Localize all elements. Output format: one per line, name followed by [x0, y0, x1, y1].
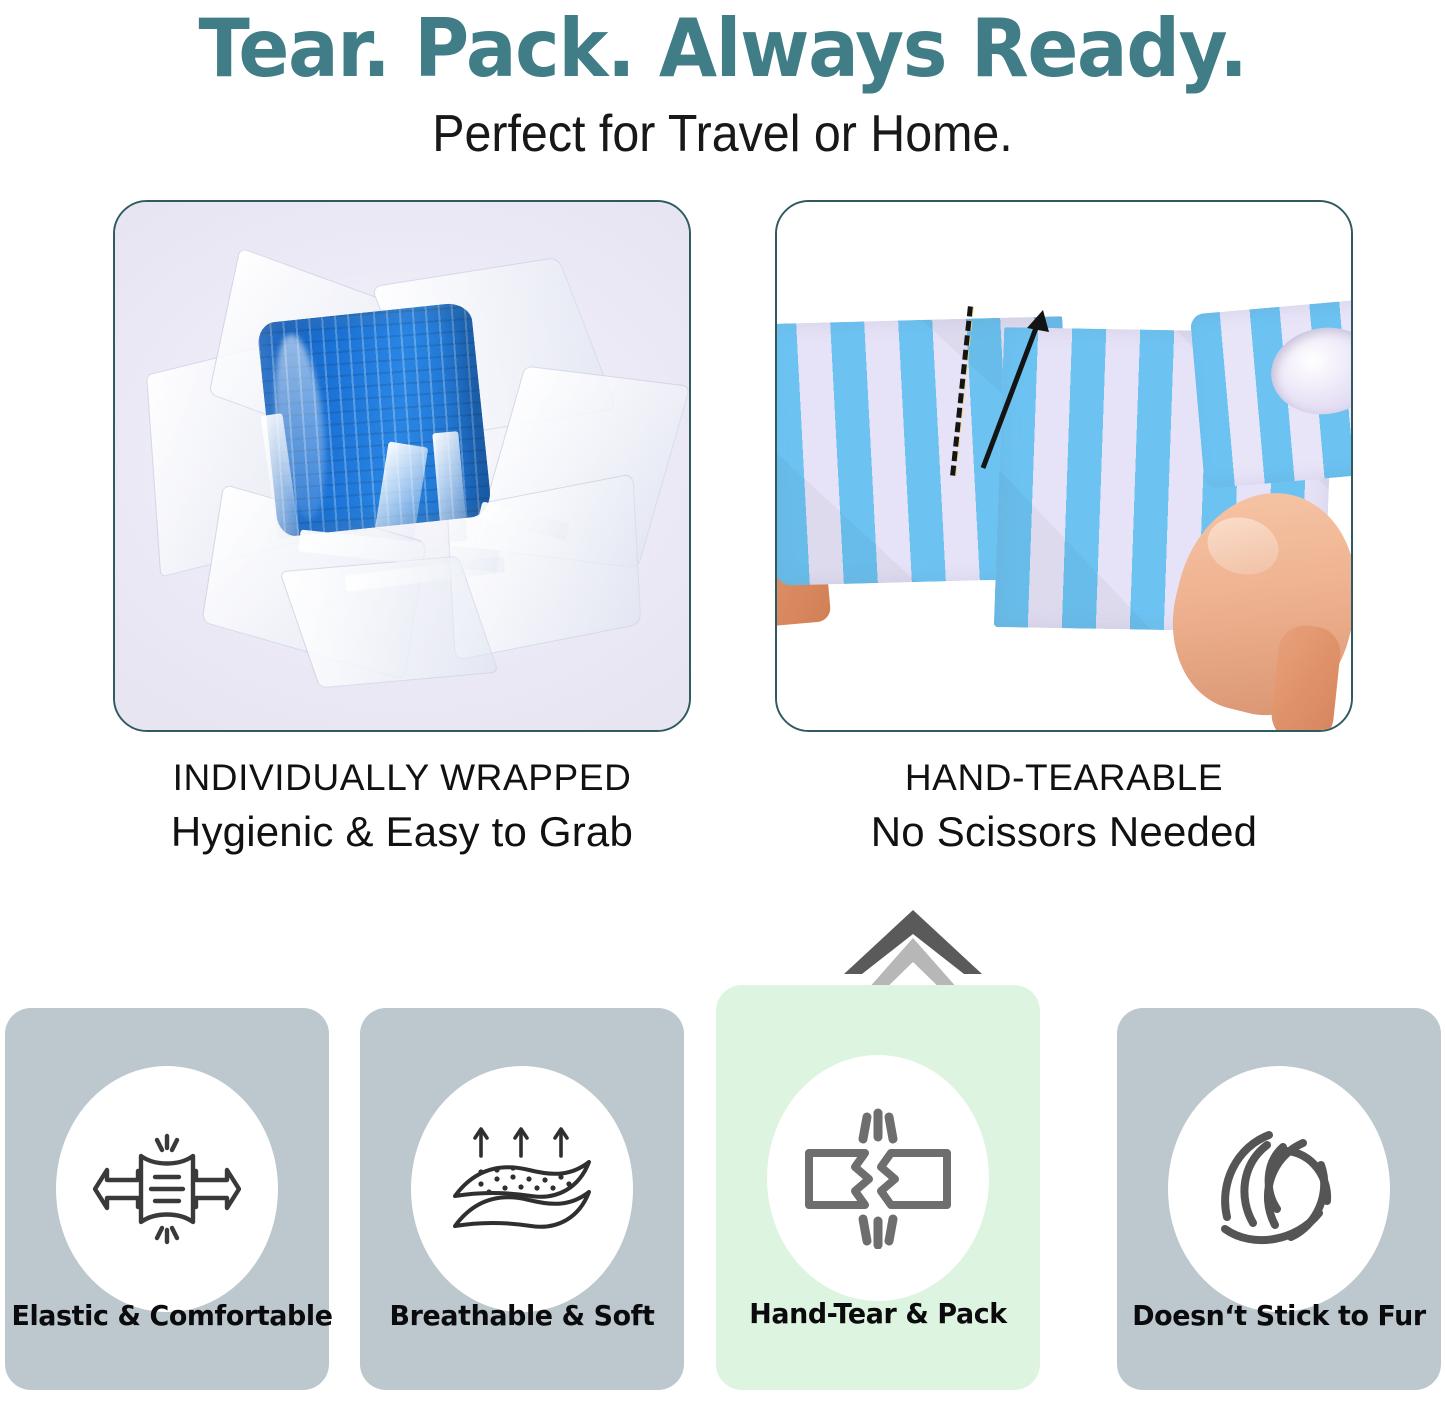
- feature-card-label: Elastic & Comfortable: [11, 1299, 322, 1332]
- breathable-fabric-icon: [447, 1122, 597, 1256]
- icon-container: [56, 1066, 278, 1312]
- caption-subtitle: Hygienic & Easy to Grab: [113, 803, 691, 862]
- feature-card-breathable[interactable]: Breathable & Soft: [360, 1008, 684, 1390]
- caption-title: INDIVIDUALLY WRAPPED: [113, 752, 691, 803]
- page-headline: Tear. Pack. Always Ready.: [43, 2, 1401, 95]
- feature-card-no-stick-fur[interactable]: Doesn‘t Stick to Fur: [1117, 1008, 1441, 1390]
- feature-cards-row: Elastic & Comfortable: [0, 985, 1445, 1395]
- caption-subtitle: No Scissors Needed: [775, 803, 1353, 862]
- icon-container: [411, 1066, 633, 1312]
- product-infographic: Tear. Pack. Always Ready. Perfect for Tr…: [0, 0, 1445, 1410]
- caption-title: HAND-TEARABLE: [775, 752, 1353, 803]
- feature-card-label: Doesn‘t Stick to Fur: [1123, 1299, 1434, 1332]
- page-subheadline: Perfect for Travel or Home.: [51, 104, 1395, 164]
- fur-swirl-icon: [1211, 1121, 1347, 1257]
- photo-panel-individually-wrapped: [113, 200, 691, 732]
- plastic-wrap-highlights: [149, 262, 659, 662]
- feature-card-label: Breathable & Soft: [366, 1299, 677, 1332]
- icon-container: [1168, 1066, 1390, 1312]
- panel-background: [777, 202, 1351, 730]
- caption-hand-tearable: HAND-TEARABLE No Scissors Needed: [775, 752, 1353, 862]
- icon-container: [767, 1055, 989, 1301]
- stretch-arrows-icon: [93, 1122, 241, 1256]
- tear-direction-arrow-icon: [965, 306, 1055, 476]
- feature-card-elastic[interactable]: Elastic & Comfortable: [5, 1008, 329, 1390]
- caption-individually-wrapped: INDIVIDUALLY WRAPPED Hygienic & Easy to …: [113, 752, 691, 862]
- photo-panel-hand-tearable: [775, 200, 1353, 732]
- lower-thumb: [1269, 623, 1343, 732]
- feature-card-label: Hand-Tear & Pack: [722, 1297, 1033, 1330]
- feature-card-hand-tear[interactable]: Hand-Tear & Pack: [716, 985, 1040, 1390]
- torn-tape-icon: [799, 1107, 957, 1249]
